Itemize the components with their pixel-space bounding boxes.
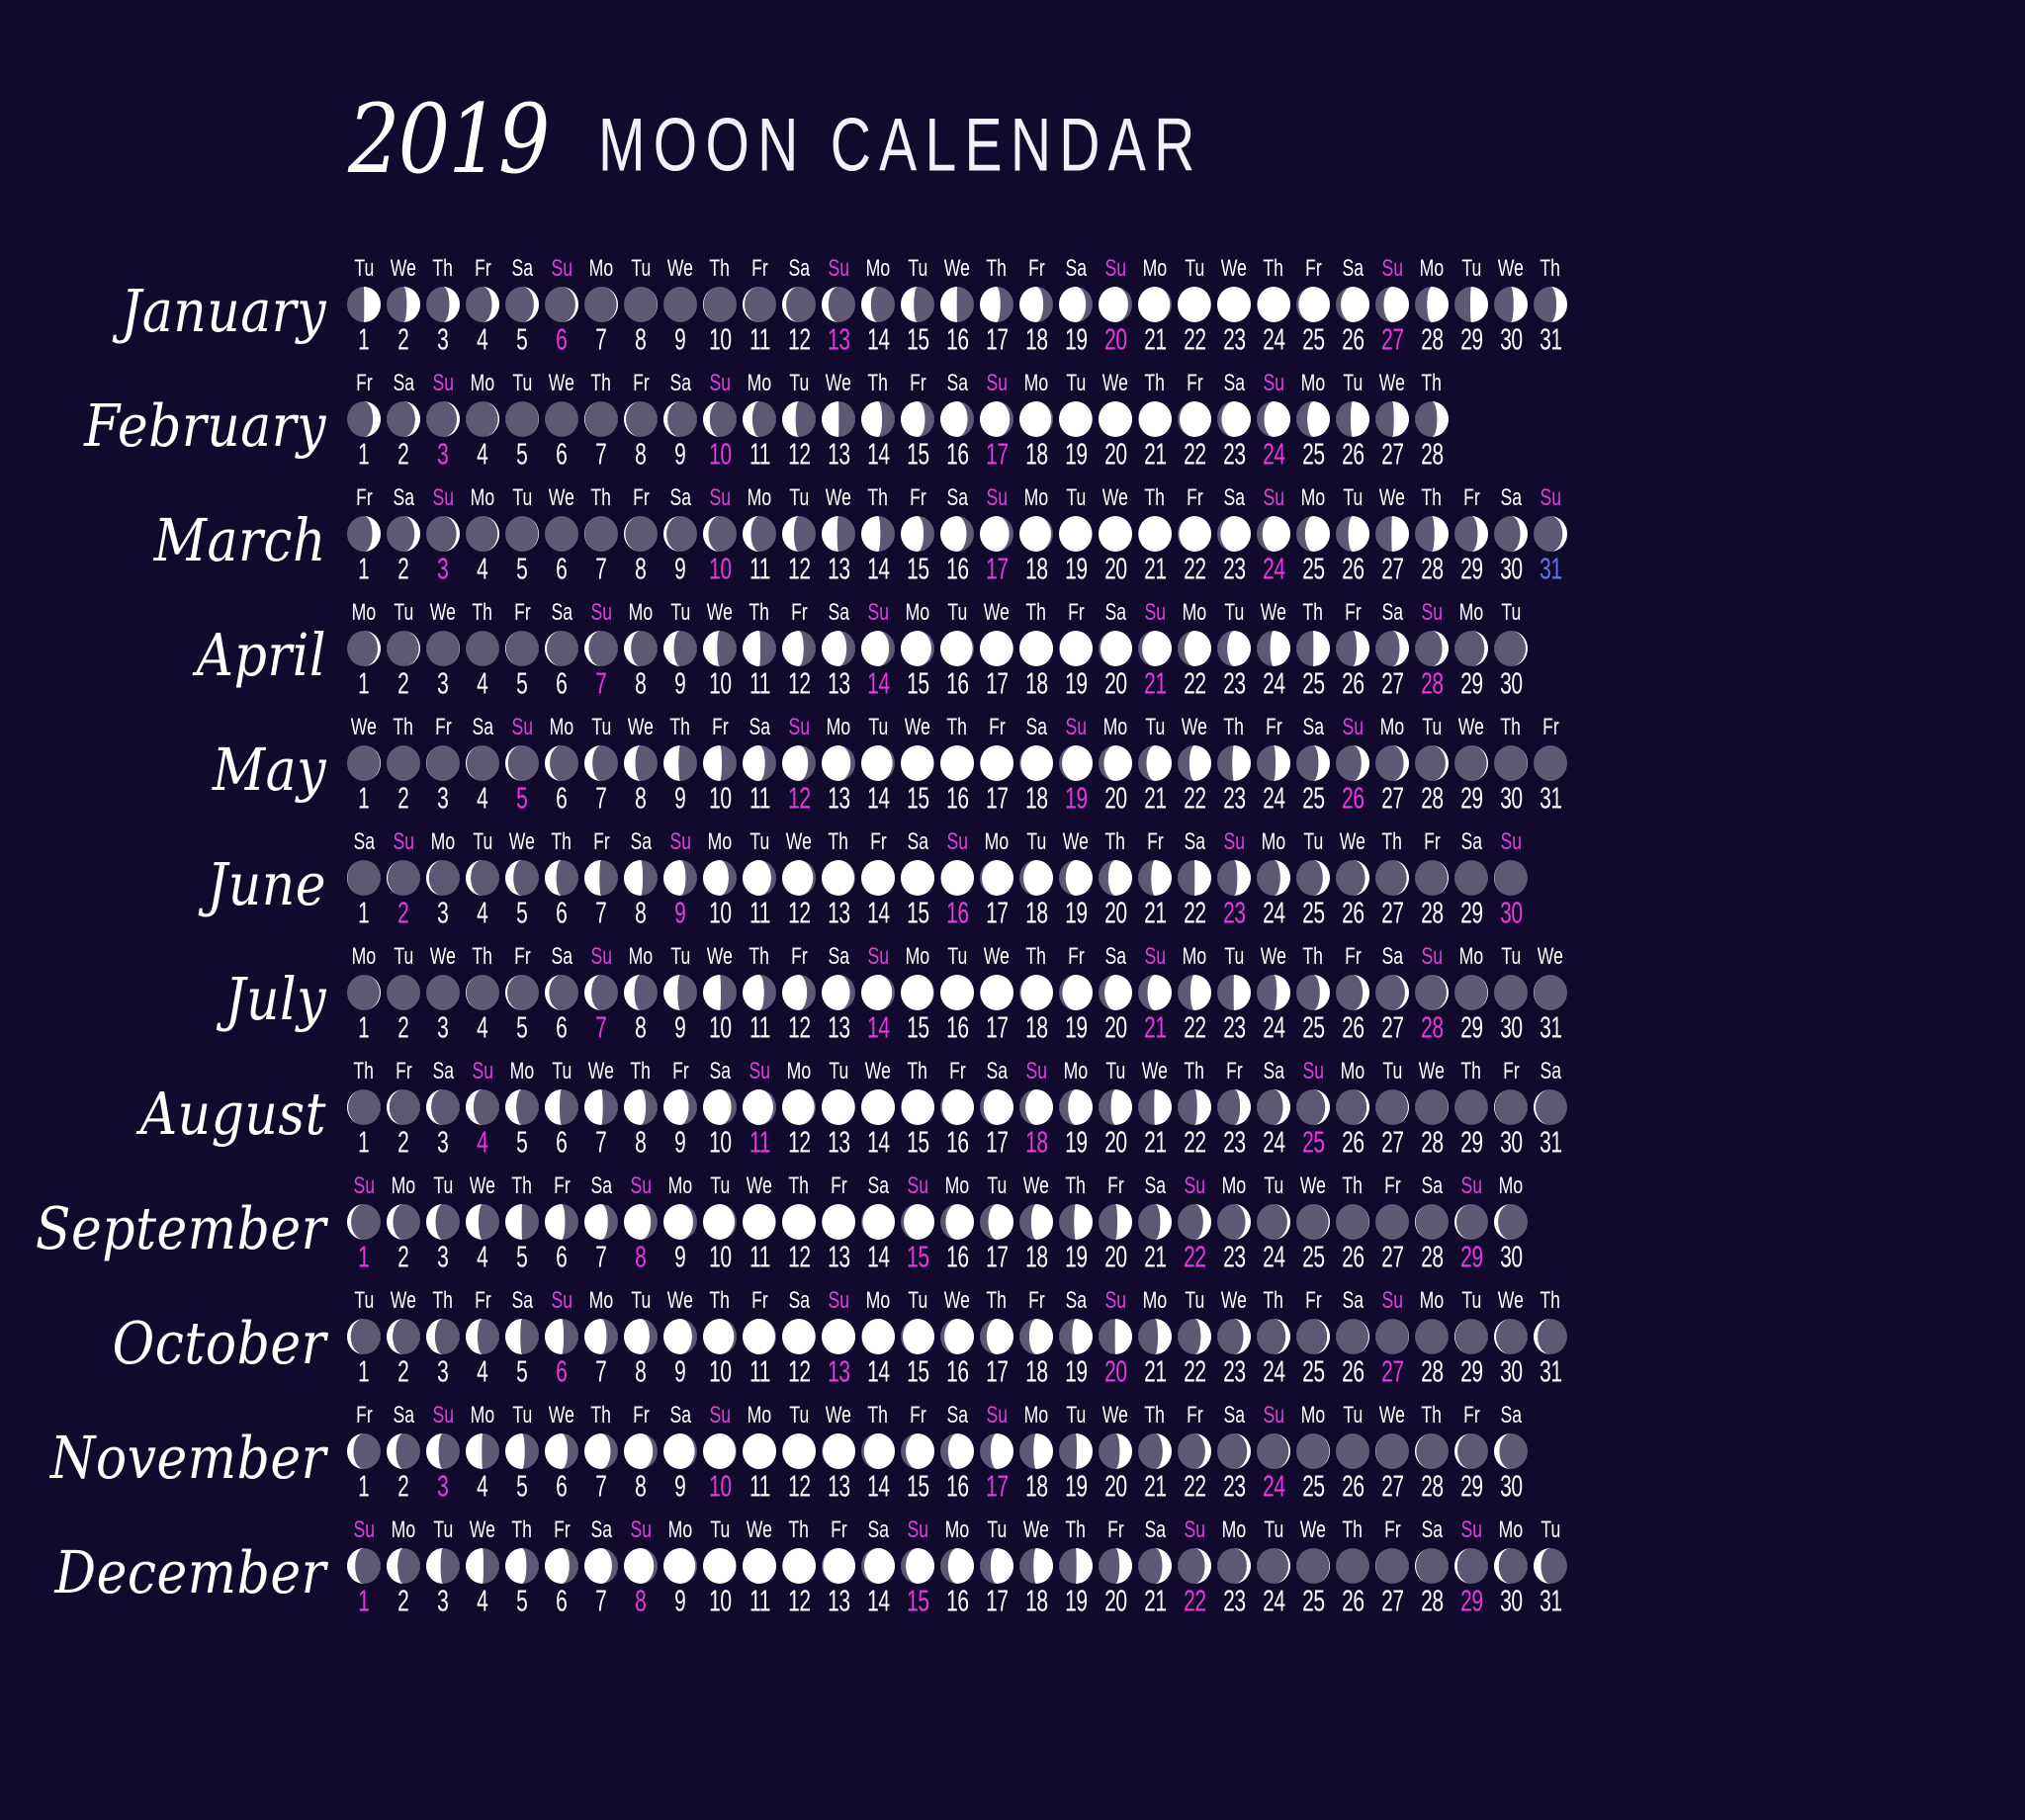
day-cell[interactable]: We29 <box>1452 718 1491 814</box>
day-cell[interactable]: Th27 <box>1372 832 1412 928</box>
day-cell[interactable]: Sa7 <box>581 1520 621 1616</box>
day-cell[interactable]: Th3 <box>423 1291 463 1387</box>
day-cell[interactable]: We21 <box>1135 1062 1175 1158</box>
day-cell[interactable]: Fr5 <box>502 947 542 1043</box>
day-cell[interactable]: Th7 <box>581 1406 621 1502</box>
day-cell[interactable]: We26 <box>1333 832 1372 928</box>
day-cell[interactable]: Sa11 <box>740 718 779 814</box>
day-cell[interactable]: Th25 <box>1293 603 1333 699</box>
day-cell[interactable]: We23 <box>1214 1291 1254 1387</box>
day-cell[interactable]: Sa2 <box>384 488 423 584</box>
day-cell[interactable]: Su24 <box>1254 374 1293 470</box>
day-cell[interactable]: Sa30 <box>1491 1406 1531 1502</box>
day-cell[interactable]: Th11 <box>740 603 779 699</box>
day-cell[interactable]: Tu19 <box>1056 488 1096 584</box>
day-cell[interactable]: Tu28 <box>1412 718 1452 814</box>
day-cell[interactable]: We9 <box>660 259 700 355</box>
day-cell[interactable]: Mo18 <box>1016 1406 1056 1502</box>
day-cell[interactable]: Mo23 <box>1214 1520 1254 1616</box>
day-cell[interactable]: Tu12 <box>779 374 819 470</box>
day-cell[interactable]: Tu16 <box>937 603 977 699</box>
day-cell[interactable]: Su8 <box>621 1176 660 1272</box>
day-cell[interactable]: We28 <box>1412 1062 1452 1158</box>
day-cell[interactable]: Sa12 <box>779 259 819 355</box>
day-cell[interactable]: Mo6 <box>542 718 581 814</box>
day-cell[interactable]: Mo8 <box>621 603 660 699</box>
day-cell[interactable]: Fr29 <box>1452 1406 1491 1502</box>
day-cell[interactable]: Su29 <box>1452 1520 1491 1616</box>
day-cell[interactable]: Mo4 <box>463 1406 502 1502</box>
day-cell[interactable]: Th23 <box>1214 718 1254 814</box>
day-cell[interactable]: Th31 <box>1531 259 1570 355</box>
day-cell[interactable]: Tu26 <box>1333 374 1372 470</box>
day-cell[interactable]: Fr11 <box>740 1291 779 1387</box>
day-cell[interactable]: Tu8 <box>621 1291 660 1387</box>
day-cell[interactable]: Th17 <box>977 259 1016 355</box>
day-cell[interactable]: Mo14 <box>858 1291 898 1387</box>
day-cell[interactable]: Mo16 <box>937 1520 977 1616</box>
day-cell[interactable]: Tu10 <box>700 1520 740 1616</box>
day-cell[interactable]: Tu31 <box>1531 1520 1570 1616</box>
day-cell[interactable]: Su7 <box>581 603 621 699</box>
day-cell[interactable]: Su3 <box>423 488 463 584</box>
day-cell[interactable]: Fr18 <box>1016 1291 1056 1387</box>
day-cell[interactable]: Tu26 <box>1333 1406 1372 1502</box>
day-cell[interactable]: Fr7 <box>581 832 621 928</box>
day-cell[interactable]: Mo25 <box>1293 488 1333 584</box>
day-cell[interactable]: Sa30 <box>1491 488 1531 584</box>
day-cell[interactable]: Mo9 <box>660 1176 700 1272</box>
day-cell[interactable]: Sa1 <box>344 832 384 928</box>
day-cell[interactable]: Th5 <box>502 1520 542 1616</box>
day-cell[interactable]: Su17 <box>977 1406 1016 1502</box>
day-cell[interactable]: Fr29 <box>1452 488 1491 584</box>
day-cell[interactable]: Fr1 <box>344 374 384 470</box>
day-cell[interactable]: Mo15 <box>898 603 937 699</box>
day-cell[interactable]: We18 <box>1016 1520 1056 1616</box>
day-cell[interactable]: Tu5 <box>502 1406 542 1502</box>
day-cell[interactable]: Sa2 <box>384 374 423 470</box>
day-cell[interactable]: Fr19 <box>1056 603 1096 699</box>
day-cell[interactable]: Th7 <box>581 488 621 584</box>
day-cell[interactable]: Su18 <box>1016 1062 1056 1158</box>
day-cell[interactable]: Sa16 <box>937 374 977 470</box>
day-cell[interactable]: Mo9 <box>660 1520 700 1616</box>
day-cell[interactable]: We5 <box>502 832 542 928</box>
day-cell[interactable]: Su27 <box>1372 259 1412 355</box>
day-cell[interactable]: Th28 <box>1412 1406 1452 1502</box>
day-cell[interactable]: Sa26 <box>1333 1291 1372 1387</box>
day-cell[interactable]: Fr22 <box>1175 1406 1214 1502</box>
day-cell[interactable]: We20 <box>1096 488 1135 584</box>
day-cell[interactable]: We23 <box>1214 259 1254 355</box>
day-cell[interactable]: Fr8 <box>621 374 660 470</box>
day-cell[interactable]: We27 <box>1372 488 1412 584</box>
day-cell[interactable]: Mo13 <box>819 718 858 814</box>
day-cell[interactable]: Th28 <box>1412 488 1452 584</box>
day-cell[interactable]: We1 <box>344 718 384 814</box>
day-cell[interactable]: We6 <box>542 1406 581 1502</box>
day-cell[interactable]: Tu13 <box>819 1062 858 1158</box>
day-cell[interactable]: Fr24 <box>1254 718 1293 814</box>
day-cell[interactable]: Th11 <box>740 947 779 1043</box>
day-cell[interactable]: Su22 <box>1175 1176 1214 1272</box>
day-cell[interactable]: Su16 <box>937 832 977 928</box>
day-cell[interactable]: Mo7 <box>581 259 621 355</box>
day-cell[interactable]: Fr25 <box>1293 259 1333 355</box>
day-cell[interactable]: Sa23 <box>1214 488 1254 584</box>
day-cell[interactable]: We11 <box>740 1176 779 1272</box>
day-cell[interactable]: Mo28 <box>1412 259 1452 355</box>
day-cell[interactable]: We16 <box>937 1291 977 1387</box>
day-cell[interactable]: Tu2 <box>384 947 423 1043</box>
day-cell[interactable]: Mo1 <box>344 947 384 1043</box>
day-cell[interactable]: Fr25 <box>1293 1291 1333 1387</box>
day-cell[interactable]: Tu15 <box>898 1291 937 1387</box>
day-cell[interactable]: Fr27 <box>1372 1176 1412 1272</box>
day-cell[interactable]: Mo21 <box>1135 1291 1175 1387</box>
day-cell[interactable]: We6 <box>542 488 581 584</box>
day-cell[interactable]: Fr12 <box>779 603 819 699</box>
day-cell[interactable]: Mo10 <box>700 832 740 928</box>
day-cell[interactable]: Mo14 <box>858 259 898 355</box>
day-cell[interactable]: Fr26 <box>1333 603 1372 699</box>
day-cell[interactable]: Fr8 <box>621 1406 660 1502</box>
day-cell[interactable]: Mo25 <box>1293 374 1333 470</box>
day-cell[interactable]: Mo11 <box>740 374 779 470</box>
day-cell[interactable]: We18 <box>1016 1176 1056 1272</box>
day-cell[interactable]: Fr20 <box>1096 1176 1135 1272</box>
day-cell[interactable]: Tu17 <box>977 1176 1016 1272</box>
day-cell[interactable]: Su14 <box>858 947 898 1043</box>
day-cell[interactable]: Su30 <box>1491 832 1531 928</box>
day-cell[interactable]: Su4 <box>463 1062 502 1158</box>
day-cell[interactable]: Tu12 <box>779 488 819 584</box>
day-cell[interactable]: Sa28 <box>1412 1176 1452 1272</box>
day-cell[interactable]: Fr4 <box>463 259 502 355</box>
day-cell[interactable]: Tu5 <box>502 374 542 470</box>
day-cell[interactable]: Sa21 <box>1135 1176 1175 1272</box>
day-cell[interactable]: Fr15 <box>898 374 937 470</box>
day-cell[interactable]: Sa14 <box>858 1520 898 1616</box>
day-cell[interactable]: Fr22 <box>1175 488 1214 584</box>
day-cell[interactable]: Th12 <box>779 1520 819 1616</box>
day-cell[interactable]: Sa9 <box>660 488 700 584</box>
day-cell[interactable]: Th14 <box>858 1406 898 1502</box>
day-cell[interactable]: Su11 <box>740 1062 779 1158</box>
day-cell[interactable]: Sa9 <box>660 374 700 470</box>
day-cell[interactable]: Tu24 <box>1254 1520 1293 1616</box>
day-cell[interactable]: Mo15 <box>898 947 937 1043</box>
day-cell[interactable]: Th26 <box>1333 1176 1372 1272</box>
day-cell[interactable]: Sa28 <box>1412 1520 1452 1616</box>
day-cell[interactable]: Sa17 <box>977 1062 1016 1158</box>
day-cell[interactable]: Th4 <box>463 947 502 1043</box>
day-cell[interactable]: Sa8 <box>621 832 660 928</box>
day-cell[interactable]: Th9 <box>660 718 700 814</box>
day-cell[interactable]: We6 <box>542 374 581 470</box>
day-cell[interactable]: We17 <box>977 947 1016 1043</box>
day-cell[interactable]: Mo18 <box>1016 374 1056 470</box>
day-cell[interactable]: Mo4 <box>463 488 502 584</box>
day-cell[interactable]: Tu3 <box>423 1176 463 1272</box>
day-cell[interactable]: Th21 <box>1135 488 1175 584</box>
day-cell[interactable]: Mo25 <box>1293 1406 1333 1502</box>
day-cell[interactable]: Su23 <box>1214 832 1254 928</box>
day-cell[interactable]: Tu1 <box>344 1291 384 1387</box>
day-cell[interactable]: Tu10 <box>700 1176 740 1272</box>
day-cell[interactable]: Sa5 <box>502 259 542 355</box>
day-cell[interactable]: Su5 <box>502 718 542 814</box>
day-cell[interactable]: Tu30 <box>1491 603 1531 699</box>
day-cell[interactable]: Th13 <box>819 832 858 928</box>
day-cell[interactable]: We2 <box>384 1291 423 1387</box>
day-cell[interactable]: Sa15 <box>898 832 937 928</box>
day-cell[interactable]: Su28 <box>1412 603 1452 699</box>
day-cell[interactable]: We13 <box>819 374 858 470</box>
day-cell[interactable]: We22 <box>1175 718 1214 814</box>
day-cell[interactable]: Su24 <box>1254 488 1293 584</box>
day-cell[interactable]: We9 <box>660 1291 700 1387</box>
day-cell[interactable]: Mo2 <box>384 1520 423 1616</box>
day-cell[interactable]: Mo19 <box>1056 1062 1096 1158</box>
day-cell[interactable]: Tu19 <box>1056 374 1096 470</box>
day-cell[interactable]: We13 <box>819 1406 858 1502</box>
day-cell[interactable]: Tu15 <box>898 259 937 355</box>
day-cell[interactable]: Tu18 <box>1016 832 1056 928</box>
day-cell[interactable]: Fr31 <box>1531 718 1570 814</box>
day-cell[interactable]: Tu9 <box>660 947 700 1043</box>
day-cell[interactable]: We14 <box>858 1062 898 1158</box>
day-cell[interactable]: We24 <box>1254 603 1293 699</box>
day-cell[interactable]: Fr28 <box>1412 832 1452 928</box>
day-cell[interactable]: Sa27 <box>1372 603 1412 699</box>
day-cell[interactable]: Th28 <box>1412 374 1452 470</box>
day-cell[interactable]: Tu29 <box>1452 259 1491 355</box>
day-cell[interactable]: Mo3 <box>423 832 463 928</box>
day-cell[interactable]: Tu8 <box>621 259 660 355</box>
day-cell[interactable]: Th12 <box>779 1176 819 1272</box>
day-cell[interactable]: Th18 <box>1016 603 1056 699</box>
day-cell[interactable]: Tu6 <box>542 1062 581 1158</box>
day-cell[interactable]: We31 <box>1531 947 1570 1043</box>
day-cell[interactable]: Su21 <box>1135 947 1175 1043</box>
day-cell[interactable]: Th8 <box>621 1062 660 1158</box>
day-cell[interactable]: Sa21 <box>1135 1520 1175 1616</box>
day-cell[interactable]: Th17 <box>977 1291 1016 1387</box>
day-cell[interactable]: Sa5 <box>502 1291 542 1387</box>
day-cell[interactable]: Mo7 <box>581 1291 621 1387</box>
day-cell[interactable]: We2 <box>384 259 423 355</box>
day-cell[interactable]: We4 <box>463 1176 502 1272</box>
day-cell[interactable]: Fr30 <box>1491 1062 1531 1158</box>
day-cell[interactable]: Sa7 <box>581 1176 621 1272</box>
day-cell[interactable]: Th16 <box>937 718 977 814</box>
day-cell[interactable]: We20 <box>1096 374 1135 470</box>
day-cell[interactable]: We11 <box>740 1520 779 1616</box>
day-cell[interactable]: Th24 <box>1254 259 1293 355</box>
day-cell[interactable]: We17 <box>977 603 1016 699</box>
day-cell[interactable]: Sa2 <box>384 1406 423 1502</box>
day-cell[interactable]: Su29 <box>1452 1176 1491 1272</box>
day-cell[interactable]: Tu29 <box>1452 1291 1491 1387</box>
day-cell[interactable]: Tu26 <box>1333 488 1372 584</box>
day-cell[interactable]: Mo22 <box>1175 947 1214 1043</box>
day-cell[interactable]: Fr26 <box>1333 947 1372 1043</box>
day-cell[interactable]: Su31 <box>1531 488 1570 584</box>
day-cell[interactable]: Mo22 <box>1175 603 1214 699</box>
day-cell[interactable]: Fr10 <box>700 718 740 814</box>
day-cell[interactable]: Mo24 <box>1254 832 1293 928</box>
day-cell[interactable]: Sa19 <box>1056 259 1096 355</box>
day-cell[interactable]: Tu23 <box>1214 603 1254 699</box>
day-cell[interactable]: Fr20 <box>1096 1520 1135 1616</box>
day-cell[interactable]: Mo2 <box>384 1176 423 1272</box>
day-cell[interactable]: Sa6 <box>542 947 581 1043</box>
day-cell[interactable]: We7 <box>581 1062 621 1158</box>
day-cell[interactable]: We24 <box>1254 947 1293 1043</box>
day-cell[interactable]: Mo12 <box>779 1062 819 1158</box>
day-cell[interactable]: Su17 <box>977 488 1016 584</box>
day-cell[interactable]: Sa20 <box>1096 603 1135 699</box>
day-cell[interactable]: Th6 <box>542 832 581 928</box>
day-cell[interactable]: We3 <box>423 947 463 1043</box>
day-cell[interactable]: We13 <box>819 488 858 584</box>
day-cell[interactable]: Fr19 <box>1056 947 1096 1043</box>
day-cell[interactable]: Sa9 <box>660 1406 700 1502</box>
day-cell[interactable]: Mo18 <box>1016 488 1056 584</box>
day-cell[interactable]: Su2 <box>384 832 423 928</box>
day-cell[interactable]: Th2 <box>384 718 423 814</box>
day-cell[interactable]: Tu25 <box>1293 832 1333 928</box>
day-cell[interactable]: Tu3 <box>423 1520 463 1616</box>
day-cell[interactable]: Sa29 <box>1452 832 1491 928</box>
day-cell[interactable]: Th1 <box>344 1062 384 1158</box>
day-cell[interactable]: Th19 <box>1056 1520 1096 1616</box>
day-cell[interactable]: Mo29 <box>1452 947 1491 1043</box>
day-cell[interactable]: Th20 <box>1096 832 1135 928</box>
day-cell[interactable]: Su26 <box>1333 718 1372 814</box>
day-cell[interactable]: Tu19 <box>1056 1406 1096 1502</box>
day-cell[interactable]: Su13 <box>819 259 858 355</box>
day-cell[interactable]: We25 <box>1293 1520 1333 1616</box>
day-cell[interactable]: Fr15 <box>898 488 937 584</box>
day-cell[interactable]: Su12 <box>779 718 819 814</box>
day-cell[interactable]: Tu30 <box>1491 947 1531 1043</box>
day-cell[interactable]: Fr27 <box>1372 1520 1412 1616</box>
day-cell[interactable]: Fr22 <box>1175 374 1214 470</box>
day-cell[interactable]: Su6 <box>542 259 581 355</box>
day-cell[interactable]: Fr15 <box>898 1406 937 1502</box>
day-cell[interactable]: Sa24 <box>1254 1062 1293 1158</box>
day-cell[interactable]: Sa3 <box>423 1062 463 1158</box>
day-cell[interactable]: Tu9 <box>660 603 700 699</box>
day-cell[interactable]: Mo5 <box>502 1062 542 1158</box>
day-cell[interactable]: Tu5 <box>502 488 542 584</box>
day-cell[interactable]: We30 <box>1491 1291 1531 1387</box>
day-cell[interactable]: We30 <box>1491 259 1531 355</box>
day-cell[interactable]: Th7 <box>581 374 621 470</box>
day-cell[interactable]: Th15 <box>898 1062 937 1158</box>
day-cell[interactable]: Th14 <box>858 374 898 470</box>
day-cell[interactable]: We10 <box>700 603 740 699</box>
day-cell[interactable]: Tu2 <box>384 603 423 699</box>
day-cell[interactable]: Sa13 <box>819 947 858 1043</box>
day-cell[interactable]: Su3 <box>423 374 463 470</box>
day-cell[interactable]: Sa26 <box>1333 259 1372 355</box>
day-cell[interactable]: Su13 <box>819 1291 858 1387</box>
day-cell[interactable]: Tu16 <box>937 947 977 1043</box>
day-cell[interactable]: Mo26 <box>1333 1062 1372 1158</box>
day-cell[interactable]: Tu23 <box>1214 947 1254 1043</box>
day-cell[interactable]: Mo1 <box>344 603 384 699</box>
day-cell[interactable]: Sa6 <box>542 603 581 699</box>
day-cell[interactable]: Fr4 <box>463 1291 502 1387</box>
day-cell[interactable]: Th10 <box>700 1291 740 1387</box>
day-cell[interactable]: Su1 <box>344 1520 384 1616</box>
day-cell[interactable]: Fr13 <box>819 1520 858 1616</box>
day-cell[interactable]: Sa4 <box>463 718 502 814</box>
day-cell[interactable]: Tu22 <box>1175 259 1214 355</box>
day-cell[interactable]: Sa12 <box>779 1291 819 1387</box>
day-cell[interactable]: Sa25 <box>1293 718 1333 814</box>
day-cell[interactable]: Su10 <box>700 488 740 584</box>
day-cell[interactable]: Su15 <box>898 1520 937 1616</box>
day-cell[interactable]: Sa22 <box>1175 832 1214 928</box>
day-cell[interactable]: Th5 <box>502 1176 542 1272</box>
day-cell[interactable]: Fr6 <box>542 1176 581 1272</box>
day-cell[interactable]: Sa23 <box>1214 374 1254 470</box>
day-cell[interactable]: Mo16 <box>937 1176 977 1272</box>
day-cell[interactable]: Fr16 <box>937 1062 977 1158</box>
day-cell[interactable]: Su19 <box>1056 718 1096 814</box>
day-cell[interactable]: Mo21 <box>1135 259 1175 355</box>
day-cell[interactable]: Tu17 <box>977 1520 1016 1616</box>
day-cell[interactable]: Su9 <box>660 832 700 928</box>
day-cell[interactable]: Su14 <box>858 603 898 699</box>
day-cell[interactable]: Su15 <box>898 1176 937 1272</box>
day-cell[interactable]: Tu1 <box>344 259 384 355</box>
day-cell[interactable]: Tu4 <box>463 832 502 928</box>
day-cell[interactable]: Su10 <box>700 1406 740 1502</box>
day-cell[interactable]: Mo29 <box>1452 603 1491 699</box>
day-cell[interactable]: Fr23 <box>1214 1062 1254 1158</box>
day-cell[interactable]: Su6 <box>542 1291 581 1387</box>
day-cell[interactable]: Fr5 <box>502 603 542 699</box>
day-cell[interactable]: Fr14 <box>858 832 898 928</box>
day-cell[interactable]: Fr8 <box>621 488 660 584</box>
day-cell[interactable]: Mo28 <box>1412 1291 1452 1387</box>
day-cell[interactable]: Fr18 <box>1016 259 1056 355</box>
day-cell[interactable]: Sa13 <box>819 603 858 699</box>
day-cell[interactable]: Fr3 <box>423 718 463 814</box>
day-cell[interactable]: Su1 <box>344 1176 384 1272</box>
day-cell[interactable]: Tu22 <box>1175 1291 1214 1387</box>
day-cell[interactable]: Sa10 <box>700 1062 740 1158</box>
day-cell[interactable]: Th30 <box>1491 718 1531 814</box>
day-cell[interactable]: Th10 <box>700 259 740 355</box>
day-cell[interactable]: Tu12 <box>779 1406 819 1502</box>
day-cell[interactable]: Sa23 <box>1214 1406 1254 1502</box>
day-cell[interactable]: Tu11 <box>740 832 779 928</box>
day-cell[interactable]: Mo27 <box>1372 718 1412 814</box>
day-cell[interactable]: Su22 <box>1175 1520 1214 1616</box>
day-cell[interactable]: Th26 <box>1333 1520 1372 1616</box>
day-cell[interactable]: Sa27 <box>1372 947 1412 1043</box>
day-cell[interactable]: Mo11 <box>740 1406 779 1502</box>
day-cell[interactable]: Sa16 <box>937 488 977 584</box>
day-cell[interactable]: Tu27 <box>1372 1062 1412 1158</box>
